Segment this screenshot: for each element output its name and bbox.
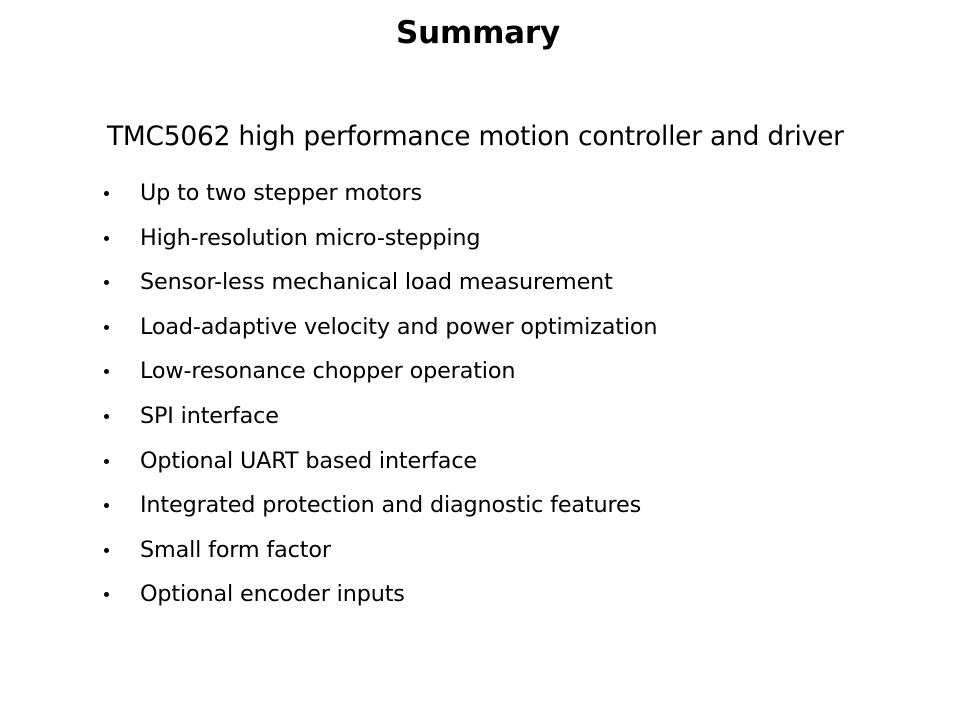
- list-item: Optional UART based interface: [100, 447, 920, 492]
- list-item-label: Low-resonance chopper operation: [140, 357, 515, 386]
- bullet-dot-icon: [104, 280, 109, 285]
- list-item: Integrated protection and diagnostic fea…: [100, 491, 920, 536]
- list-item: SPI interface: [100, 402, 920, 447]
- bullet-dot-icon: [104, 503, 109, 508]
- list-item-label: SPI interface: [140, 402, 279, 431]
- bullet-dot-icon: [104, 592, 109, 597]
- summary-bullet-list: Up to two stepper motors High-resolution…: [100, 179, 920, 625]
- list-item: Up to two stepper motors: [100, 179, 920, 224]
- bullet-dot-icon: [104, 236, 109, 241]
- list-item: Small form factor: [100, 536, 920, 581]
- bullet-dot-icon: [104, 459, 109, 464]
- page-title: Summary: [0, 14, 956, 52]
- list-item-label: Small form factor: [140, 536, 331, 565]
- bullet-dot-icon: [104, 325, 109, 330]
- list-item: High-resolution micro-stepping: [100, 224, 920, 269]
- list-item: Low-resonance chopper operation: [100, 357, 920, 402]
- list-item: Sensor-less mechanical load measurement: [100, 268, 920, 313]
- list-item-label: Optional UART based interface: [140, 447, 477, 476]
- list-item-label: Optional encoder inputs: [140, 580, 405, 609]
- list-item-label: Load-adaptive velocity and power optimiz…: [140, 313, 657, 342]
- list-item-label: Integrated protection and diagnostic fea…: [140, 491, 641, 520]
- list-item-label: Sensor-less mechanical load measurement: [140, 268, 613, 297]
- list-item: Optional encoder inputs: [100, 580, 920, 625]
- slide-subtitle: TMC5062 high performance motion controll…: [107, 120, 844, 154]
- bullet-dot-icon: [104, 369, 109, 374]
- bullet-dot-icon: [104, 191, 109, 196]
- list-item-label: High-resolution micro-stepping: [140, 224, 480, 253]
- bullet-dot-icon: [104, 414, 109, 419]
- slide-canvas: Summary TMC5062 high performance motion …: [0, 0, 960, 720]
- list-item: Load-adaptive velocity and power optimiz…: [100, 313, 920, 358]
- bullet-dot-icon: [104, 548, 109, 553]
- list-item-label: Up to two stepper motors: [140, 179, 422, 208]
